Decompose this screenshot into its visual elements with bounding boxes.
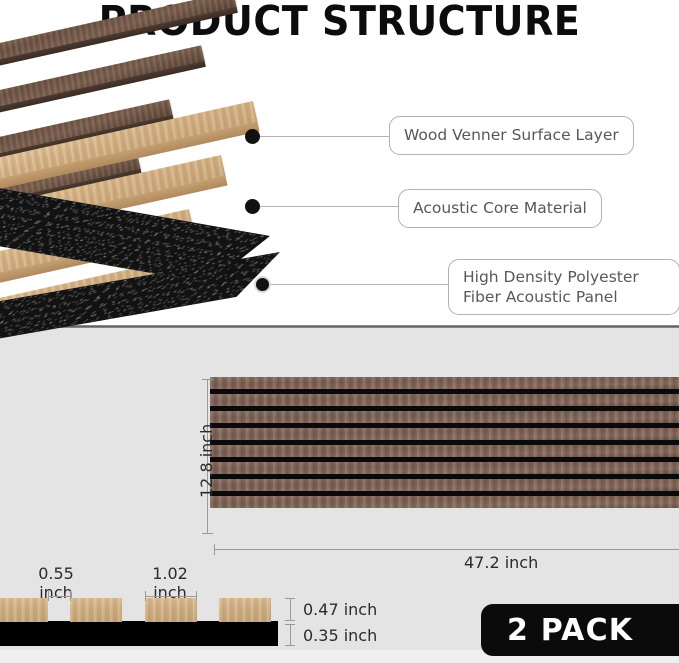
width-dimension-line <box>214 549 679 550</box>
callout-leader-line <box>270 284 450 285</box>
panel-slat <box>210 411 679 423</box>
slat-height-dimension-line <box>290 598 291 621</box>
base-thickness-label: 0.35 inch <box>303 626 377 645</box>
callout-label-felt: High Density Polyester Fiber Acoustic Pa… <box>448 259 679 315</box>
panel-slat <box>210 462 679 474</box>
slat-width-tick-right <box>196 591 197 601</box>
base-thickness-dimension-line <box>290 624 291 646</box>
callout-label-veneer: Wood Venner Surface Layer <box>389 116 634 155</box>
panel-width-label: 47.2 inch <box>464 553 538 572</box>
height-dimension-tick-bottom <box>202 533 213 534</box>
slat-height-tick-top <box>285 598 295 599</box>
panel-slat <box>210 479 679 491</box>
cross-section-slat <box>219 598 271 622</box>
gap-width-dimension-line <box>48 596 71 597</box>
panel-height-label: 12.8 inch <box>197 424 216 498</box>
callout-label-core: Acoustic Core Material <box>398 189 602 228</box>
gap-dimension-tick-right <box>70 591 71 601</box>
slat-width-dimension-line <box>145 596 197 597</box>
panel-slat <box>210 445 679 457</box>
slat-width-value: 1.02 <box>135 564 205 583</box>
callout-anchor-dot-core <box>245 199 260 214</box>
slat-width-tick-left <box>145 591 146 601</box>
panel-slat <box>210 377 679 389</box>
callout-label-felt-line1: High Density Polyester <box>463 267 665 287</box>
gap-width-value: 0.55 <box>21 564 91 583</box>
height-dimension-tick-top <box>202 379 213 380</box>
cross-section-base <box>0 621 278 646</box>
base-thickness-tick-bottom <box>285 645 295 646</box>
panel-slat <box>210 394 679 406</box>
callout-leader-line <box>258 136 391 137</box>
callout-leader-line <box>258 206 400 207</box>
base-thickness-tick-top <box>285 624 295 625</box>
callout-label-felt-line2: Fiber Acoustic Panel <box>463 287 665 307</box>
width-dimension-tick-left <box>214 544 215 555</box>
callout-anchor-ring-felt <box>254 276 271 293</box>
slat-panel-front-view <box>210 377 679 508</box>
callout-anchor-dot-veneer <box>245 129 260 144</box>
gap-width-unit: inch <box>21 583 91 602</box>
panel-slat <box>210 428 679 440</box>
panel-slat <box>210 496 679 508</box>
infographic-canvas: PRODUCT STRUCTURE <box>0 0 679 663</box>
gap-dimension-tick-left <box>48 591 49 601</box>
slat-height-label: 0.47 inch <box>303 600 377 619</box>
slat-height-tick-bottom <box>285 620 295 621</box>
pack-count-badge: 2 PACK <box>481 604 679 656</box>
